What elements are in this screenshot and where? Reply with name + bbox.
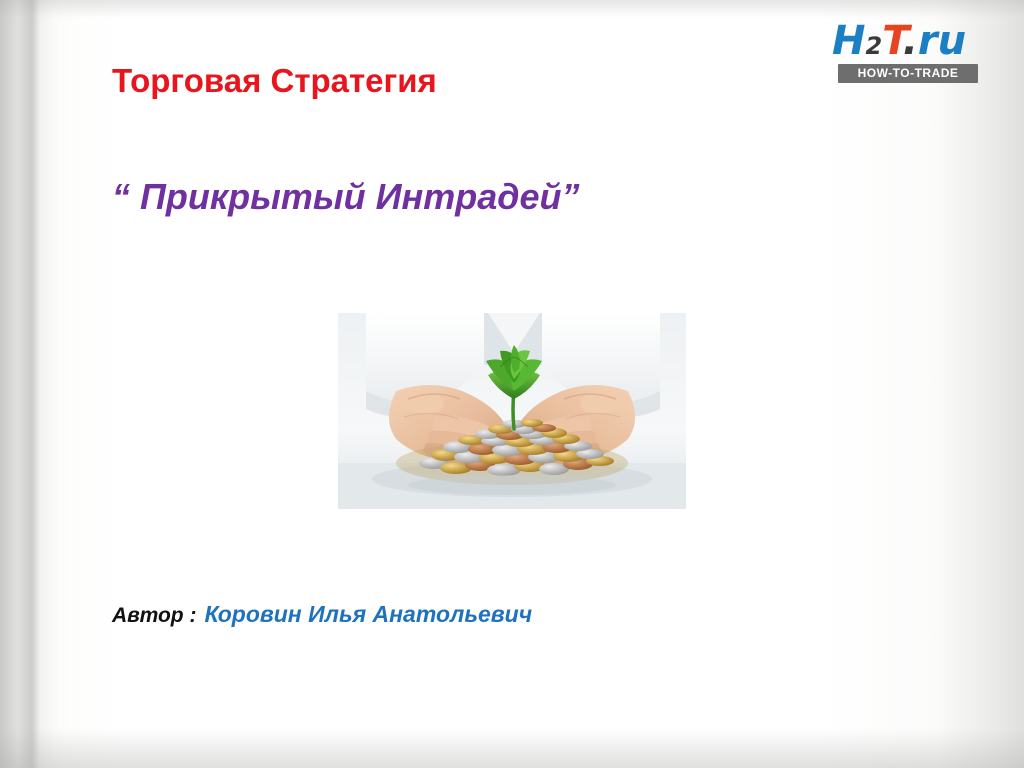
slide-subtitle: “ Прикрытый Интрадей” <box>112 176 580 218</box>
logo-wordmark: H2T.ru <box>832 18 966 64</box>
logo-letter-t: T <box>882 18 903 64</box>
logo-digit-2: 2 <box>865 32 882 60</box>
logo-tagline-text: HOW-TO-TRADE <box>838 64 978 83</box>
author-name: Коровин Илья Анатольевич <box>204 601 532 627</box>
page-right-shading <box>934 0 1024 768</box>
logo-dot: . <box>903 18 918 64</box>
presentation-slide: H2T.ru HOW-TO-TRADE Торговая Стратегия “… <box>0 0 1024 768</box>
h2t-logo[interactable]: H2T.ru HOW-TO-TRADE <box>832 18 1002 90</box>
logo-tld-ru: ru <box>918 18 966 64</box>
logo-tagline-bar: HOW-TO-TRADE <box>838 64 978 83</box>
slide-title: Торговая Стратегия <box>112 62 437 100</box>
page-top-shading <box>0 0 1024 18</box>
page-bottom-shading <box>0 728 1024 768</box>
logo-letter-h: H <box>832 18 865 64</box>
author-label: Автор : <box>112 604 196 627</box>
hands-coins-sprout-image <box>338 313 686 509</box>
page-spine-shading <box>0 0 60 768</box>
author-credit: Автор :Коровин Илья Анатольевич <box>112 601 532 628</box>
